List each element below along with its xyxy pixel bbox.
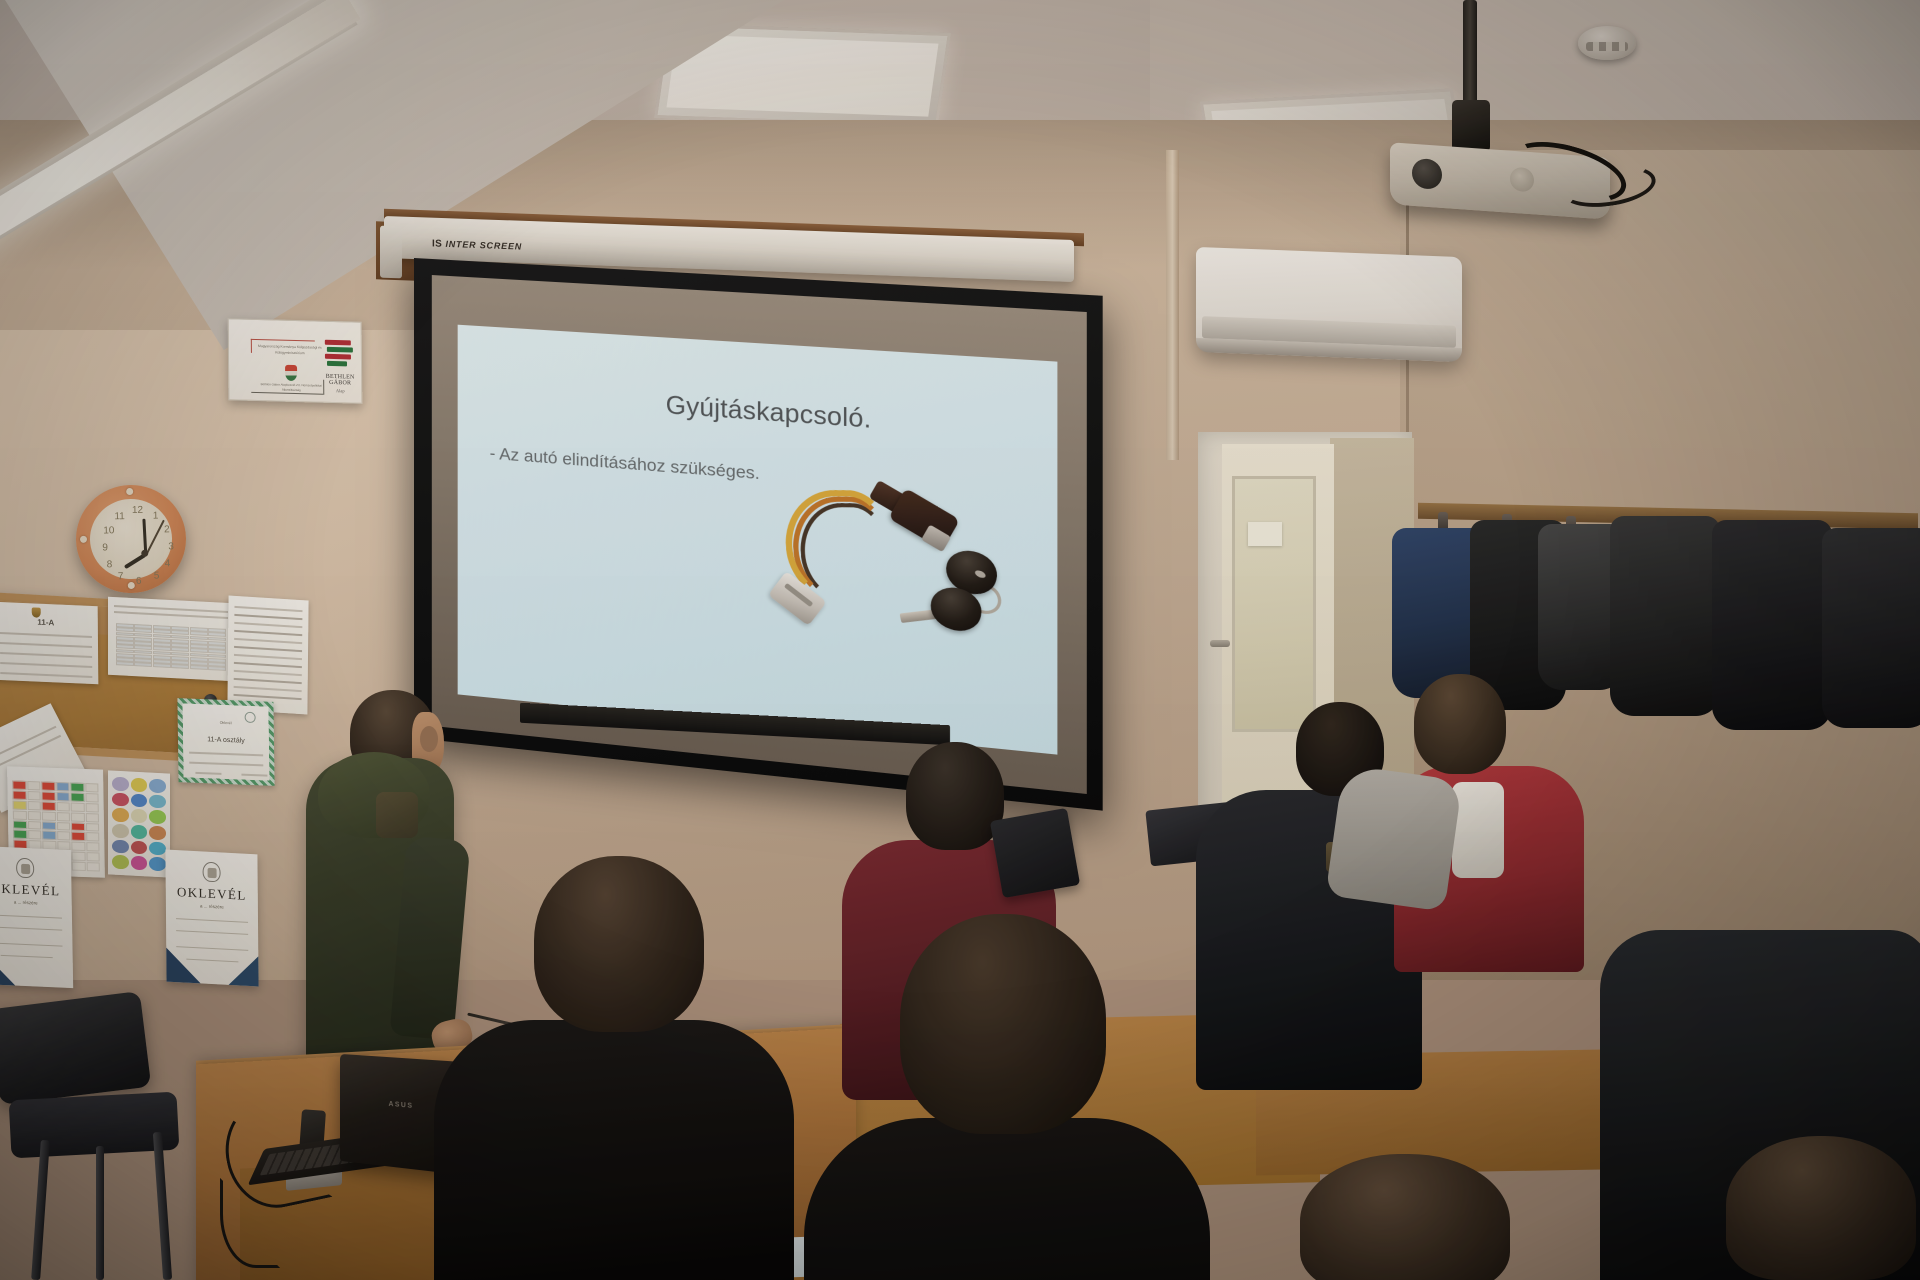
diploma-title-2: OKLEVÉL (166, 884, 258, 905)
student-6-head (1414, 674, 1506, 774)
bulletin-class-sheet: 11-A (0, 602, 98, 685)
clock-bezel-knob-bottom (128, 582, 135, 589)
bulletin-name-list-sheet (227, 596, 308, 715)
bethlen-gabor-plaque: Magyarország Kormánya Külgazdasági és Kü… (228, 318, 363, 404)
student-7-head (1726, 1136, 1916, 1280)
plaque-accent-line-v (251, 339, 252, 353)
diploma-crest-icon-1 (16, 858, 34, 879)
clock-center-pin (141, 550, 148, 557)
diploma-corner-decor-2b (228, 955, 258, 987)
student-1-head (906, 742, 1004, 850)
smoke-detector-icon (1578, 26, 1636, 60)
wall-pipe (1166, 150, 1179, 460)
hungarian-coat-of-arms-icon (285, 365, 297, 381)
screen-brand-name: INTER SCREEN (445, 239, 522, 252)
diploma-certificate-1: OKLEVÉL a ... részére (0, 846, 73, 988)
diploma-title-1: OKLEVÉL (0, 880, 72, 900)
clock-number-1: 1 (149, 510, 163, 521)
clock-bezel-knob-left (80, 536, 87, 543)
clock-bezel-knob-top (126, 488, 133, 495)
student-1-tablet (990, 808, 1080, 898)
door-handle-icon (1210, 640, 1230, 647)
projector-lens (1412, 158, 1442, 190)
clock-face: 12 1 2 3 4 5 6 7 8 9 10 11 (89, 498, 172, 579)
bulletin-data-table-sheet (108, 597, 234, 682)
clock-number-9: 9 (98, 542, 112, 553)
certificate-class-title: 11-A osztály (183, 735, 269, 745)
sticker-grid (112, 777, 166, 872)
ignition-switch-image (766, 470, 1039, 682)
plaque-org-name: BETHLEN GÁBOR (317, 374, 363, 387)
clock-number-2: 2 (160, 524, 174, 535)
hanging-jacket-5 (1712, 520, 1832, 730)
bulletin-table-grid (116, 623, 226, 671)
bulletin-certificate: Oklevél 11-A osztály (177, 698, 274, 786)
clock-number-12: 12 (130, 505, 144, 516)
clock-number-10: 10 (102, 525, 116, 536)
diploma-crest-icon-2 (203, 862, 221, 883)
presenter-shoulder-patch (376, 792, 418, 838)
air-conditioner-unit (1196, 247, 1462, 362)
presenter-ear (420, 726, 438, 752)
laptop-brand-label: ASUS (389, 1101, 414, 1110)
classroom-photo: IS INTER SCREEN Gyújtáskapcsoló. - Az au… (0, 0, 1920, 1280)
clock-number-4: 4 (160, 558, 174, 569)
class-sheet-crest-icon (32, 607, 41, 617)
door-notice-paper (1248, 522, 1282, 546)
presentation-slide: Gyújtáskapcsoló. - Az autó elindításához… (458, 325, 1058, 755)
clock-number-3: 3 (164, 541, 178, 552)
student-6-white-stripe (1452, 782, 1504, 878)
hanging-jacket-6 (1822, 528, 1920, 728)
chair-leg-3 (96, 1146, 104, 1280)
plaque-top-text: Magyarország Kormánya Külgazdasági és Kü… (255, 344, 325, 357)
student-4-head (1300, 1154, 1510, 1280)
bethlen-gabor-logo-icon (325, 340, 353, 371)
door-glass-panel (1232, 476, 1316, 732)
diploma-corner-decor-2 (166, 948, 200, 984)
projector-mount-joint (1452, 100, 1490, 152)
diploma-corner-decor-1 (0, 950, 15, 986)
plaque-accent-line-h (251, 339, 315, 342)
classroom-chair-back (0, 991, 151, 1105)
clock-number-11: 11 (113, 511, 127, 522)
screen-bracket-left (380, 226, 402, 279)
student-3-body (804, 1118, 1210, 1280)
screen-brand-prefix: IS (432, 238, 442, 249)
clock-number-8: 8 (102, 559, 116, 570)
certificate-header: Oklevél (183, 719, 269, 726)
student-6-arm-grey (1325, 764, 1462, 911)
student-2-head (534, 856, 704, 1032)
clock-number-7: 7 (114, 571, 128, 582)
class-sheet-title: 11-A (0, 616, 98, 630)
chair-leg-1 (31, 1140, 50, 1280)
student-3-head (900, 914, 1106, 1134)
slide-bullet-text: - Az autó elindításához szükséges. (490, 444, 760, 485)
clock-second-hand (145, 520, 164, 555)
hanging-jacket-4 (1610, 516, 1720, 716)
clock-number-5: 5 (150, 570, 164, 581)
slide-title: Gyújtáskapcsoló. (458, 377, 1058, 448)
chair-leg-2 (153, 1132, 172, 1280)
diploma-certificate-2: OKLEVÉL a ... részére (165, 850, 258, 987)
bulletin-sticker-sheet (108, 770, 170, 877)
student-2-body (434, 1020, 794, 1280)
